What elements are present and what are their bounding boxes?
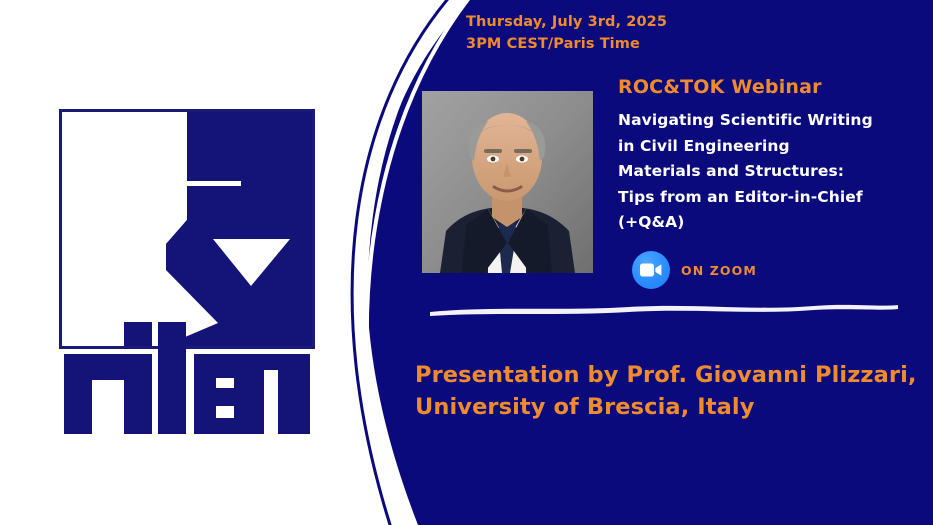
event-datetime: Thursday, July 3rd, 2025 3PM CEST/Paris … (466, 12, 667, 56)
rilem-logo (58, 108, 316, 438)
webinar-kicker: ROC&TOK Webinar (618, 76, 918, 98)
zoom-label: ON ZOOM (681, 263, 757, 278)
presenter-credit: Presentation by Prof. Giovanni Plizzari,… (415, 360, 917, 424)
webinar-poster: Thursday, July 3rd, 2025 3PM CEST/Paris … (0, 0, 933, 525)
zoom-badge: ON ZOOM (632, 251, 757, 289)
webinar-text-block: ROC&TOK Webinar Navigating Scientific Wr… (618, 76, 918, 236)
logo-slot (168, 181, 241, 186)
brush-divider (424, 296, 904, 322)
zoom-camera-icon (632, 251, 670, 289)
speaker-portrait (419, 88, 596, 276)
webinar-title: Navigating Scientific Writing in Civil E… (618, 108, 918, 236)
